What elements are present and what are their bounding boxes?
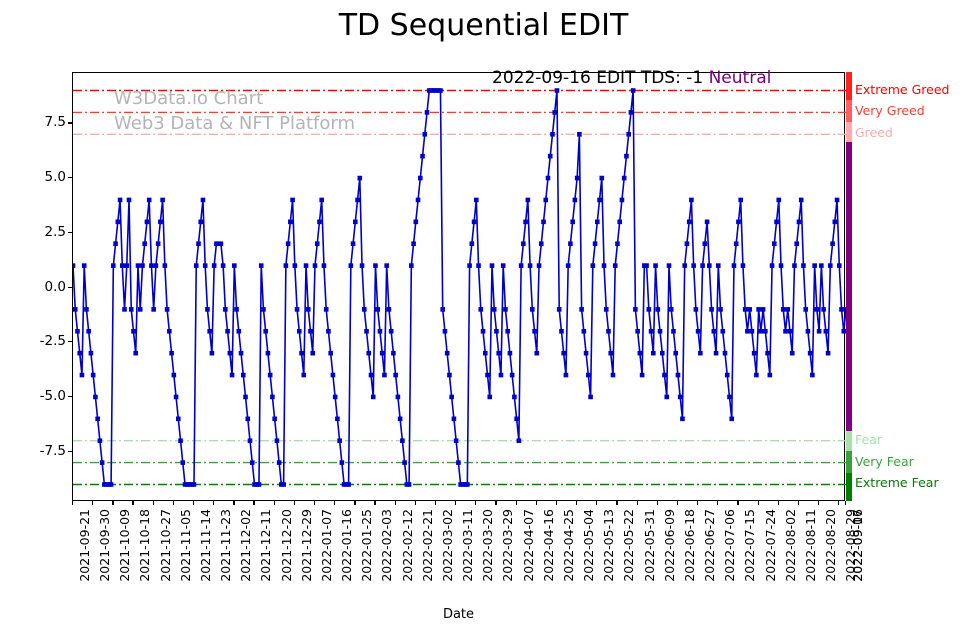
data-point-marker — [268, 373, 273, 378]
x-tick-mark — [798, 501, 799, 505]
data-point-marker — [505, 329, 510, 334]
gauge-segment — [846, 142, 852, 431]
y-tick-label: -5.0 — [20, 388, 66, 404]
data-point-marker — [611, 373, 616, 378]
threshold-lines — [73, 91, 846, 485]
data-point-marker — [124, 263, 129, 268]
data-point-marker — [337, 438, 342, 443]
data-point-marker — [452, 417, 457, 422]
data-point-marker — [700, 263, 705, 268]
data-point-marker — [366, 351, 371, 356]
x-tick-mark — [354, 501, 355, 505]
data-point-marker — [387, 307, 392, 312]
data-point-marker — [779, 263, 784, 268]
data-point-marker — [617, 220, 622, 225]
data-point-marker — [136, 263, 141, 268]
data-point-marker — [80, 373, 85, 378]
data-point-marker — [310, 351, 315, 356]
gauge-segment — [846, 473, 852, 501]
data-point-marker — [591, 263, 596, 268]
y-tick-label: 0.0 — [20, 279, 66, 295]
y-tick-mark — [68, 177, 72, 178]
x-tick-label: 2022-05-13 — [601, 509, 616, 582]
data-point-marker — [478, 307, 483, 312]
y-tick-label: -2.5 — [20, 333, 66, 349]
data-point-marker — [373, 263, 378, 268]
data-point-marker — [301, 373, 306, 378]
data-point-marker — [470, 241, 475, 246]
y-tick-mark — [68, 451, 72, 452]
data-point-marker — [180, 460, 185, 465]
chart-figure: TD Sequential EDIT -7.5-5.0-2.50.02.55.0… — [0, 0, 967, 633]
data-point-marker — [380, 351, 385, 356]
data-point-marker — [418, 176, 423, 181]
x-tick-label: 2022-02-03 — [379, 509, 394, 582]
x-tick-label: 2022-03-02 — [440, 509, 455, 582]
gauge-segment — [846, 122, 852, 142]
data-point-marker — [393, 373, 398, 378]
data-point-marker — [528, 263, 533, 268]
data-point-marker — [606, 329, 611, 334]
data-point-marker — [382, 373, 387, 378]
x-tick-mark — [72, 501, 73, 505]
gauge-segment — [846, 451, 852, 473]
data-point-marker — [490, 263, 495, 268]
data-point-marker — [691, 263, 696, 268]
data-point-marker — [496, 351, 501, 356]
x-tick-label: 2022-03-11 — [460, 509, 475, 582]
x-tick-mark — [717, 501, 718, 505]
data-point-marker — [416, 198, 421, 203]
data-point-marker — [734, 241, 739, 246]
data-point-marker — [474, 198, 479, 203]
data-point-marker — [163, 263, 168, 268]
x-tick-mark — [112, 501, 113, 505]
x-tick-mark — [314, 501, 315, 505]
data-point-marker — [595, 220, 600, 225]
y-tick-mark — [68, 287, 72, 288]
data-point-marker — [467, 263, 472, 268]
x-tick-mark — [697, 501, 698, 505]
x-tick-label: 2021-11-14 — [198, 509, 213, 582]
data-point-marker — [375, 307, 380, 312]
data-point-marker — [541, 220, 546, 225]
data-point-marker — [362, 307, 367, 312]
x-tick-label: 2021-11-23 — [218, 509, 233, 582]
x-tick-label: 2021-12-29 — [299, 509, 314, 582]
plot-area — [72, 72, 845, 501]
data-point-marker — [472, 220, 477, 225]
x-tick-mark — [455, 501, 456, 505]
data-point-marker — [248, 438, 253, 443]
data-point-marker — [443, 329, 448, 334]
data-point-marker — [438, 88, 443, 93]
data-point-marker — [707, 263, 712, 268]
data-point-marker — [772, 241, 777, 246]
data-point-marker — [290, 198, 295, 203]
data-point-marker — [245, 417, 250, 422]
x-tick-mark — [778, 501, 779, 505]
data-point-marker — [154, 263, 159, 268]
data-point-marker — [550, 132, 555, 137]
data-point-marker — [160, 198, 165, 203]
data-point-marker — [785, 307, 790, 312]
data-point-marker — [579, 307, 584, 312]
data-point-marker — [738, 198, 743, 203]
data-point-marker — [826, 351, 831, 356]
data-point-marker — [100, 460, 105, 465]
data-point-marker — [221, 263, 226, 268]
data-point-marker — [239, 351, 244, 356]
data-point-marker — [649, 329, 654, 334]
data-point-marker — [705, 220, 710, 225]
data-point-marker — [293, 263, 298, 268]
data-point-marker — [449, 395, 454, 400]
x-tick-label: 2021-11-05 — [178, 509, 193, 582]
x-tick-mark — [838, 501, 839, 505]
data-point-marker — [662, 373, 667, 378]
data-point-marker — [234, 307, 239, 312]
x-tick-mark — [253, 501, 254, 505]
data-point-marker — [582, 329, 587, 334]
data-point-marker — [519, 263, 524, 268]
data-point-marker — [723, 351, 728, 356]
data-point-marker — [140, 263, 145, 268]
data-point-marker — [138, 307, 143, 312]
x-tick-label: 2022-08-02 — [783, 509, 798, 582]
data-point-marker — [698, 351, 703, 356]
data-point-marker — [682, 263, 687, 268]
data-point-marker — [407, 482, 412, 487]
data-point-marker — [790, 351, 795, 356]
x-tick-mark — [274, 501, 275, 505]
data-point-marker — [667, 263, 672, 268]
zone-label: Greed — [855, 125, 893, 140]
data-point-marker — [319, 198, 324, 203]
data-point-marker — [655, 307, 660, 312]
y-tick-label: 7.5 — [20, 114, 66, 130]
data-point-marker — [709, 307, 714, 312]
data-point-marker — [539, 241, 544, 246]
data-point-marker — [82, 263, 87, 268]
data-point-marker — [414, 220, 419, 225]
zone-label: Extreme Fear — [855, 475, 939, 490]
data-point-marker — [165, 307, 170, 312]
data-point-marker — [304, 263, 309, 268]
data-point-marker — [369, 373, 374, 378]
x-tick-mark — [173, 501, 174, 505]
x-tick-label: 2022-05-22 — [621, 509, 636, 582]
zone-label: Extreme Greed — [855, 82, 949, 97]
data-point-marker — [411, 241, 416, 246]
data-point-marker — [259, 263, 264, 268]
x-tick-label: 2021-12-11 — [258, 509, 273, 582]
annotation-text: 2022-09-16 EDIT TDS: -1 — [492, 68, 703, 88]
data-point-marker — [174, 395, 179, 400]
x-tick-label: 2022-03-20 — [480, 509, 495, 582]
data-point-marker — [810, 373, 815, 378]
data-point-marker — [647, 307, 652, 312]
data-point-marker — [335, 417, 340, 422]
data-point-marker — [391, 351, 396, 356]
data-point-marker — [745, 329, 750, 334]
data-point-marker — [503, 307, 508, 312]
data-point-marker — [93, 395, 98, 400]
data-point-marker — [604, 307, 609, 312]
data-point-marker — [687, 220, 692, 225]
data-point-marker — [573, 198, 578, 203]
data-point-marker — [281, 482, 286, 487]
x-tick-label: 2022-02-21 — [420, 509, 435, 582]
data-point-marker — [752, 351, 757, 356]
data-point-marker — [286, 241, 291, 246]
sentiment-label: Neutral — [709, 68, 772, 88]
data-point-marker — [485, 373, 490, 378]
data-point-marker — [568, 241, 573, 246]
data-point-marker — [237, 329, 242, 334]
data-point-marker — [499, 373, 504, 378]
data-point-marker — [389, 329, 394, 334]
x-tick-mark — [536, 501, 537, 505]
data-point-marker — [839, 307, 844, 312]
data-point-marker — [409, 263, 414, 268]
data-point-marker — [521, 241, 526, 246]
data-point-marker — [324, 307, 329, 312]
data-point-marker — [743, 307, 748, 312]
data-point-marker — [514, 417, 519, 422]
data-point-marker — [712, 329, 717, 334]
data-point-marker — [803, 307, 808, 312]
data-point-marker — [577, 132, 582, 137]
x-tick-mark — [737, 501, 738, 505]
data-point-marker — [158, 220, 163, 225]
data-point-marker — [275, 438, 280, 443]
data-point-marker — [608, 351, 613, 356]
page-title: TD Sequential EDIT — [0, 8, 967, 43]
data-point-marker — [788, 329, 793, 334]
data-point-marker — [454, 438, 459, 443]
data-point-marker — [120, 263, 125, 268]
x-tick-mark — [395, 501, 396, 505]
data-point-marker — [492, 307, 497, 312]
current-value-annotation: 2022-09-16 EDIT TDS: -1 Neutral — [492, 68, 771, 88]
data-point-marker — [241, 373, 246, 378]
data-point-marker — [680, 417, 685, 422]
data-point-marker — [194, 263, 199, 268]
data-point-marker — [398, 417, 403, 422]
data-point-marker — [91, 373, 96, 378]
x-tick-label: 2022-02-12 — [400, 509, 415, 582]
data-point-marker — [801, 263, 806, 268]
data-point-marker — [714, 351, 719, 356]
data-point-marker — [660, 351, 665, 356]
x-tick-mark — [193, 501, 194, 505]
gauge-segment — [846, 431, 852, 451]
data-point-marker — [225, 329, 230, 334]
data-point-marker — [794, 241, 799, 246]
data-point-marker — [532, 329, 537, 334]
data-point-marker — [638, 351, 643, 356]
data-point-marker — [476, 263, 481, 268]
data-point-marker — [720, 329, 725, 334]
data-point-marker — [355, 198, 360, 203]
x-tick-label: 2022-09-16 — [850, 509, 865, 582]
data-point-marker — [543, 198, 548, 203]
data-point-marker — [821, 307, 826, 312]
data-point-marker — [176, 417, 181, 422]
data-point-marker — [530, 307, 535, 312]
data-point-marker — [297, 329, 302, 334]
data-point-marker — [151, 307, 156, 312]
data-point-marker — [535, 351, 540, 356]
data-point-marker — [819, 263, 824, 268]
data-point-marker — [396, 395, 401, 400]
data-point-marker — [306, 307, 311, 312]
x-tick-mark — [334, 501, 335, 505]
x-tick-mark — [596, 501, 597, 505]
data-point-marker — [783, 329, 788, 334]
data-point-marker — [774, 220, 779, 225]
data-point-marker — [768, 373, 773, 378]
data-point-marker — [219, 241, 224, 246]
data-point-marker — [546, 176, 551, 181]
zone-label: Very Greed — [855, 103, 925, 118]
data-point-marker — [481, 329, 486, 334]
data-point-marker — [673, 351, 678, 356]
data-point-marker — [696, 329, 701, 334]
data-point-marker — [243, 395, 248, 400]
data-point-marker — [676, 373, 681, 378]
x-tick-mark — [637, 501, 638, 505]
data-point-marker — [425, 110, 430, 115]
data-point-marker — [156, 241, 161, 246]
data-point-marker — [402, 460, 407, 465]
data-point-marker — [456, 460, 461, 465]
data-point-marker — [689, 198, 694, 203]
data-point-marker — [340, 460, 345, 465]
data-point-marker — [133, 351, 138, 356]
data-point-marker — [351, 241, 356, 246]
data-point-marker — [109, 482, 114, 487]
data-point-marker — [210, 351, 215, 356]
data-point-marker — [548, 154, 553, 159]
data-point-marker — [781, 307, 786, 312]
data-point-marker — [212, 263, 217, 268]
data-point-marker — [288, 220, 293, 225]
sentiment-gauge-bar — [846, 72, 852, 501]
x-tick-mark — [495, 501, 496, 505]
gauge-segment — [846, 72, 852, 100]
data-point-marker — [557, 307, 562, 312]
data-point-marker — [118, 198, 123, 203]
data-point-marker — [232, 263, 237, 268]
data-point-marker — [622, 176, 627, 181]
plot-canvas — [73, 73, 846, 502]
x-tick-label: 2022-07-06 — [722, 509, 737, 582]
x-tick-mark — [845, 501, 846, 505]
x-tick-mark — [616, 501, 617, 505]
x-tick-label: 2022-07-24 — [763, 509, 778, 582]
data-point-marker — [792, 263, 797, 268]
data-point-marker — [552, 110, 557, 115]
data-point-marker — [537, 263, 542, 268]
x-tick-label: 2022-06-09 — [662, 509, 677, 582]
data-point-marker — [75, 329, 80, 334]
data-point-marker — [422, 132, 427, 137]
x-tick-label: 2022-07-15 — [742, 509, 757, 582]
data-point-marker — [261, 307, 266, 312]
data-point-marker — [635, 329, 640, 334]
data-point-marker — [147, 198, 152, 203]
data-point-marker — [328, 351, 333, 356]
data-point-marker — [830, 241, 835, 246]
data-point-marker — [299, 351, 304, 356]
data-point-marker — [727, 395, 732, 400]
data-point-marker — [266, 351, 271, 356]
data-point-marker — [378, 329, 383, 334]
data-point-marker — [77, 351, 82, 356]
data-point-marker — [517, 438, 522, 443]
x-tick-label: 2022-05-31 — [642, 509, 657, 582]
data-point-marker — [272, 417, 277, 422]
x-tick-label: 2021-10-09 — [117, 509, 132, 582]
x-tick-label: 2022-05-04 — [581, 509, 596, 582]
data-point-marker — [586, 373, 591, 378]
data-point-marker — [812, 263, 817, 268]
data-point-marker — [73, 307, 78, 312]
data-point-marker — [315, 241, 320, 246]
y-tick-label: 2.5 — [20, 224, 66, 240]
x-tick-mark — [576, 501, 577, 505]
data-point-marker — [308, 329, 313, 334]
data-point-marker — [501, 263, 506, 268]
data-point-marker — [73, 263, 75, 268]
data-point-marker — [597, 198, 602, 203]
data-point-marker — [694, 307, 699, 312]
data-point-marker — [223, 307, 228, 312]
data-point-marker — [313, 263, 318, 268]
data-point-marker — [750, 329, 755, 334]
data-point-marker — [797, 220, 802, 225]
data-point-marker — [615, 241, 620, 246]
data-point-marker — [736, 220, 741, 225]
data-point-marker — [703, 241, 708, 246]
data-point-marker — [806, 329, 811, 334]
data-point-marker — [599, 176, 604, 181]
data-point-marker — [671, 329, 676, 334]
data-point-marker — [664, 395, 669, 400]
x-tick-label: 2022-08-11 — [803, 509, 818, 582]
x-tick-mark — [516, 501, 517, 505]
data-point-marker — [333, 395, 338, 400]
data-point-marker — [593, 241, 598, 246]
data-point-marker — [384, 263, 389, 268]
data-point-marker — [346, 482, 351, 487]
data-point-marker — [824, 329, 829, 334]
data-point-marker — [510, 373, 515, 378]
data-point-marker — [799, 198, 804, 203]
data-point-marker — [322, 263, 327, 268]
data-point-marker — [640, 373, 645, 378]
x-tick-mark — [818, 501, 819, 505]
data-point-marker — [371, 395, 376, 400]
data-point-marker — [808, 351, 813, 356]
data-point-marker — [270, 395, 275, 400]
data-point-marker — [523, 220, 528, 225]
data-point-marker — [113, 241, 118, 246]
y-tick-label: -7.5 — [20, 443, 66, 459]
data-point-marker — [835, 198, 840, 203]
